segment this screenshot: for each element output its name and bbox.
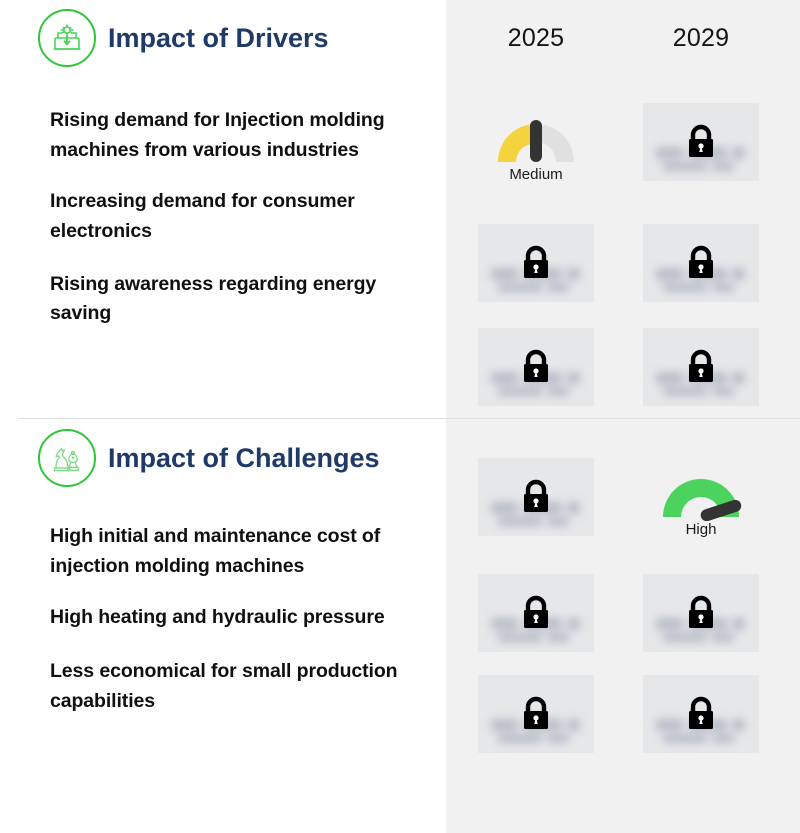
section-divider (18, 418, 800, 419)
impact-matrix-page: 2025 2029 Impact of Drivers Rising deman… (0, 0, 800, 833)
section-header-challenges: Impact of Challenges (0, 420, 446, 496)
section-title-challenges: Impact of Challenges (108, 443, 380, 474)
cell-challenges-r2-2029[interactable] (643, 574, 759, 652)
padlock-icon (684, 347, 718, 387)
padlock-icon (519, 694, 553, 734)
column-header-2025: 2025 (478, 24, 594, 53)
section-challenges: Impact of Challenges High initial and ma… (0, 420, 446, 716)
gauge-high: High (643, 455, 759, 547)
gauge-label-high: High (643, 521, 759, 538)
chess-pieces-icon (38, 429, 96, 487)
challenge-bullet-3: Less economical for small production cap… (50, 657, 422, 716)
cell-challenges-r2-2025[interactable] (478, 574, 594, 652)
section-header-drivers: Impact of Drivers (0, 0, 446, 76)
cell-challenges-r3-2025[interactable] (478, 675, 594, 753)
cell-challenges-r1-2029[interactable]: High (643, 455, 759, 533)
gauge-label-medium: Medium (478, 166, 594, 183)
cell-drivers-r3-2029[interactable] (643, 328, 759, 406)
padlock-icon (519, 593, 553, 633)
driver-bullet-2: Increasing demand for consumer electroni… (50, 187, 422, 246)
gauge-medium: Medium (478, 100, 594, 192)
padlock-icon (519, 477, 553, 517)
padlock-icon (684, 243, 718, 283)
cell-drivers-r2-2029[interactable] (643, 224, 759, 302)
section-drivers: Impact of Drivers Rising demand for Inje… (0, 0, 446, 329)
challenges-bullet-list: High initial and maintenance cost of inj… (0, 522, 446, 716)
padlock-icon (519, 243, 553, 283)
cell-drivers-r3-2025[interactable] (478, 328, 594, 406)
column-header-2029: 2029 (643, 24, 759, 53)
injection-molding-machine-icon (38, 9, 96, 67)
challenge-bullet-1: High initial and maintenance cost of inj… (50, 522, 422, 581)
cell-drivers-r1-2029[interactable] (643, 103, 759, 181)
drivers-bullet-list: Rising demand for Injection molding mach… (0, 106, 446, 329)
padlock-icon (684, 694, 718, 734)
padlock-icon (684, 593, 718, 633)
padlock-icon (519, 347, 553, 387)
cell-drivers-r2-2025[interactable] (478, 224, 594, 302)
cell-drivers-r1-2025[interactable]: Medium (478, 100, 594, 178)
driver-bullet-3: Rising awareness regarding energy saving (50, 270, 422, 329)
padlock-icon (684, 122, 718, 162)
challenge-bullet-2: High heating and hydraulic pressure (50, 603, 422, 633)
cell-challenges-r3-2029[interactable] (643, 675, 759, 753)
cell-challenges-r1-2025[interactable] (478, 458, 594, 536)
section-title-drivers: Impact of Drivers (108, 23, 329, 54)
driver-bullet-1: Rising demand for Injection molding mach… (50, 106, 422, 165)
